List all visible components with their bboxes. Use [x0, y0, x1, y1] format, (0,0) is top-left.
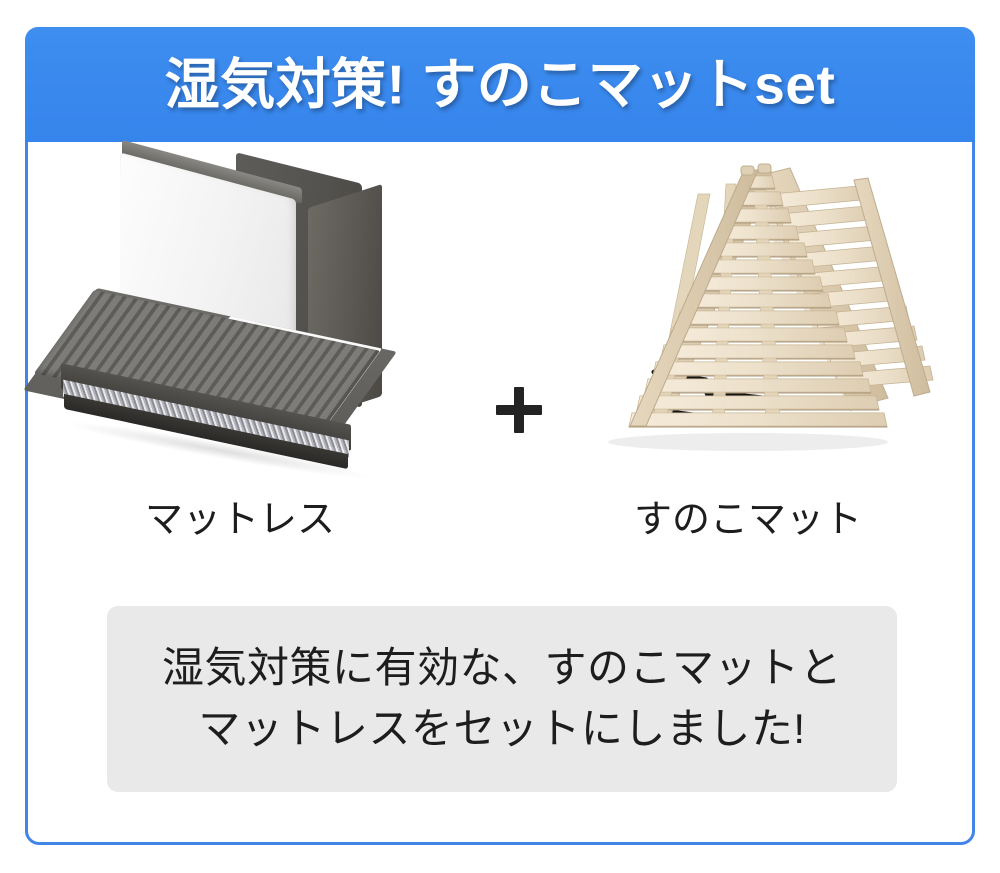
description-box: 湿気対策に有効な、すのこマットと マットレスをセットにしました!: [107, 606, 897, 792]
banner-header: 湿気対策! すのこマットset: [25, 27, 975, 142]
product-item-sunoko: すのこマット: [548, 142, 948, 592]
product-label-mattress: マットレス: [40, 500, 440, 542]
tri-fold-mattress-photo: [60, 162, 430, 462]
page-title: 湿気対策! すのこマットset: [25, 57, 975, 112]
products-row: マットレス: [28, 142, 972, 592]
folding-slatted-wood-mat-photo: [558, 150, 938, 462]
description-text: 湿気対策に有効な、すのこマットと マットレスをセットにしました!: [162, 638, 842, 760]
sunoko-figure: [548, 142, 948, 472]
product-item-mattress: マットレス: [40, 142, 440, 592]
product-label-sunoko: すのこマット: [548, 500, 948, 542]
plus-icon: [496, 387, 542, 433]
banner-page: 湿気対策! すのこマットset: [0, 0, 1000, 873]
product-set-card: 湿気対策! すのこマットset: [25, 27, 975, 845]
mattress-figure: [40, 142, 440, 472]
